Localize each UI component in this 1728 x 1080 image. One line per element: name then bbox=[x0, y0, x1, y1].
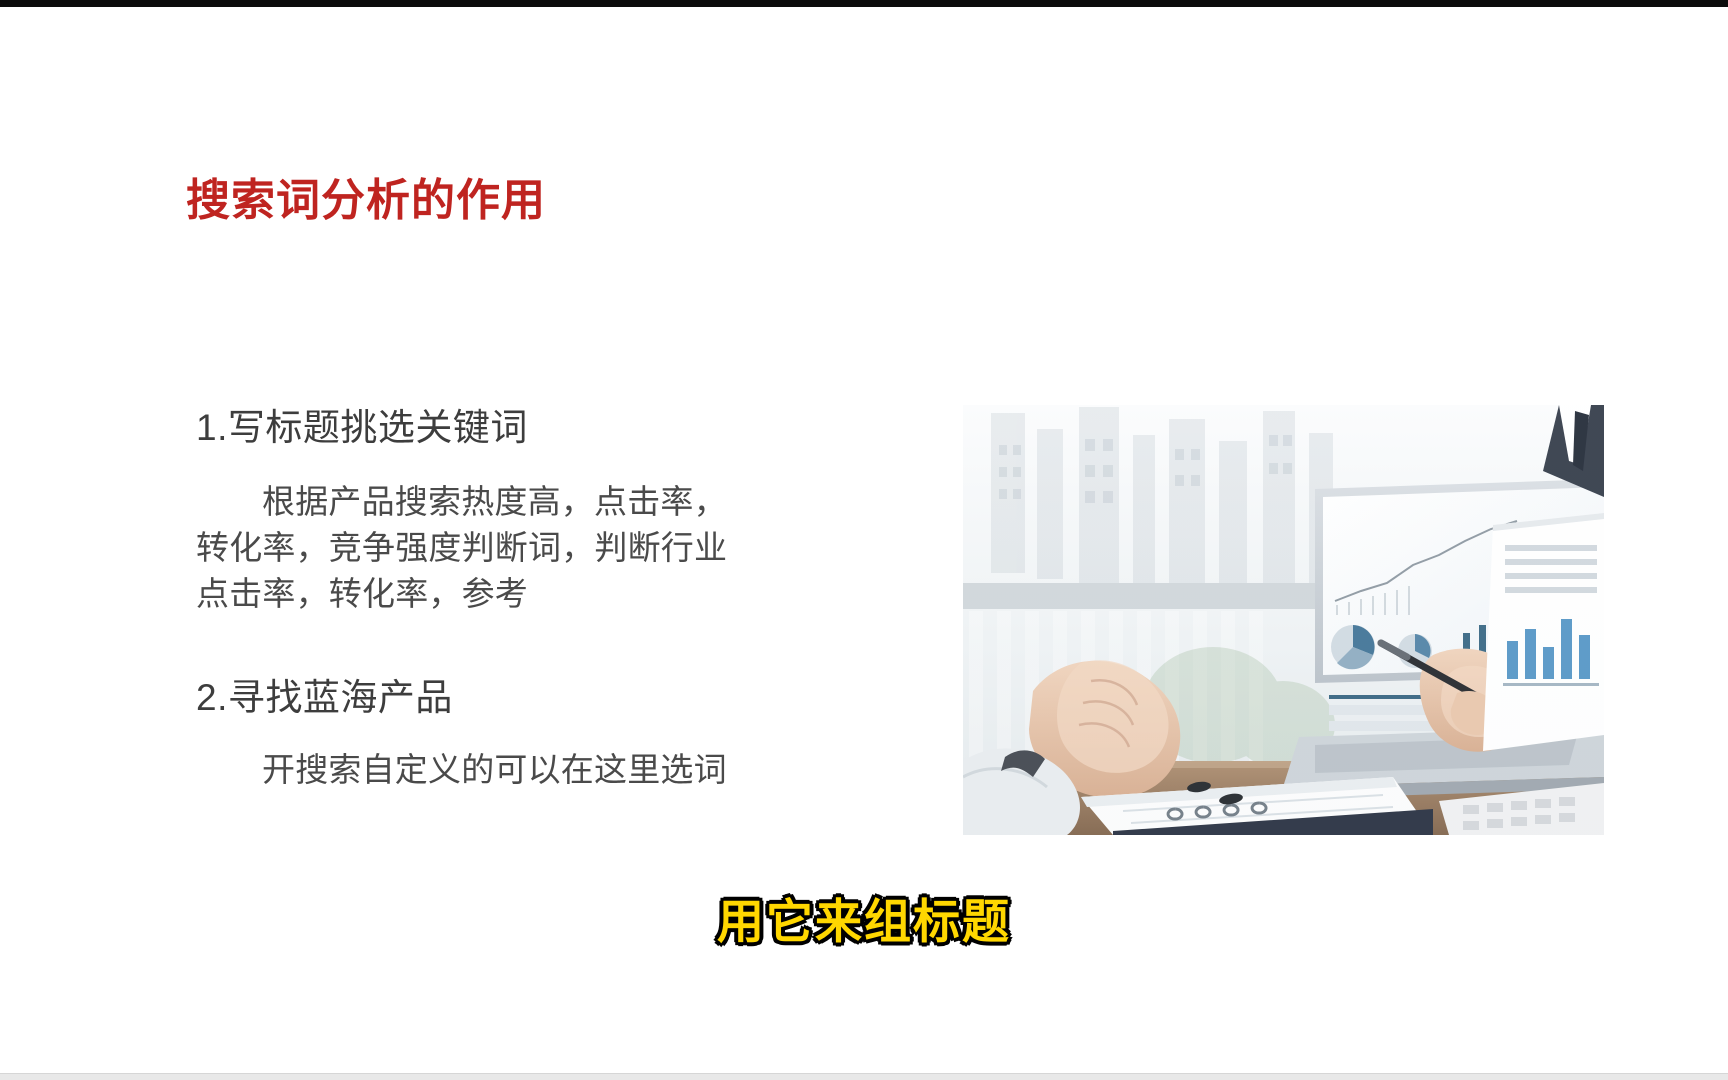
letterbox-bar-bottom bbox=[0, 1073, 1728, 1080]
letterbox-bar-top bbox=[0, 0, 1728, 7]
slide-canvas: 搜索词分析的作用 1.写标题挑选关键词 根据产品搜索热度高，点击率， 转化率，竞… bbox=[0, 0, 1728, 1080]
photo-illustration bbox=[963, 405, 1604, 835]
point-heading-1: 1.写标题挑选关键词 bbox=[196, 405, 836, 451]
point-body-1-line-3: 点击率，转化率，参考 bbox=[196, 571, 836, 617]
content-column: 1.写标题挑选关键词 根据产品搜索热度高，点击率， 转化率，竞争强度判断词，判断… bbox=[196, 405, 836, 793]
page-title: 搜索词分析的作用 bbox=[186, 173, 546, 229]
point-body-2: 开搜索自定义的可以在这里选词 bbox=[196, 747, 836, 793]
video-caption: 用它来组标题 bbox=[0, 892, 1728, 952]
point-body-1-line-1: 根据产品搜索热度高，点击率， bbox=[196, 479, 836, 525]
point-body-1-line-2: 转化率，竞争强度判断词，判断行业 bbox=[196, 525, 836, 571]
point-heading-2: 2.寻找蓝海产品 bbox=[196, 675, 836, 721]
office-meeting-photo bbox=[963, 405, 1604, 835]
point-body-1: 根据产品搜索热度高，点击率， 转化率，竞争强度判断词，判断行业 点击率，转化率，… bbox=[196, 479, 836, 617]
